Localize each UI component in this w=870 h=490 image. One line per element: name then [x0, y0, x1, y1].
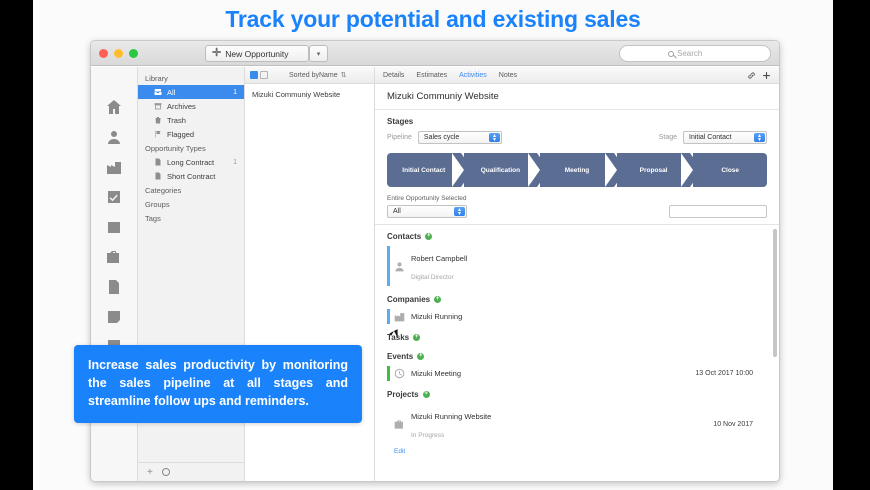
tab-activities[interactable]: Activities — [459, 72, 487, 79]
sidebar-item-label: Trash — [167, 116, 186, 125]
sidebar-section-opportunity-types: Opportunity Types — [138, 141, 244, 155]
gear-icon[interactable] — [162, 468, 170, 476]
calendar-icon[interactable] — [106, 219, 122, 235]
page-title: Track your potential and existing sales — [33, 6, 833, 33]
list-item[interactable]: Robert Campbell Digital Director — [387, 244, 767, 288]
add-icon[interactable] — [762, 71, 771, 80]
contract-icon — [154, 158, 162, 166]
new-opportunity-dropdown[interactable]: ▾ — [309, 45, 328, 62]
detail-pane: Details Estimates Activities Notes Mizuk… — [375, 67, 779, 481]
tab-details[interactable]: Details — [383, 72, 404, 79]
list-item[interactable]: Mizuki Meeting 13 Oct 2017 10:00 — [387, 364, 767, 383]
sidebar-section-categories[interactable]: Categories — [138, 183, 244, 197]
slide-canvas: Track your potential and existing sales … — [33, 0, 833, 490]
flag-icon — [154, 130, 162, 138]
stage-step-meeting[interactable]: Meeting — [540, 153, 614, 187]
group-heading-projects: Projects + — [375, 383, 779, 402]
activity-filter-value: All — [393, 208, 401, 215]
new-opportunity-button[interactable]: ✛ New Opportunity ▾ — [205, 45, 309, 62]
search-placeholder: Search — [677, 49, 702, 58]
detail-actions — [747, 71, 771, 80]
chevron-updown-icon: ▲▼ — [754, 133, 765, 142]
activity-search-input[interactable] — [669, 205, 767, 218]
activities-scroll-area: Contacts + Robert Campbell Digital Direc… — [375, 224, 779, 481]
group-title: Projects — [387, 390, 419, 399]
stage-value: Initial Contact — [689, 134, 731, 141]
archive-icon — [154, 102, 162, 110]
feature-callout: Increase sales productivity by monitorin… — [74, 345, 362, 423]
list-item[interactable]: Mizuki Communiy Website — [245, 84, 374, 105]
stage-step-proposal[interactable]: Proposal — [617, 153, 691, 187]
sidebar-item-label: All — [167, 88, 175, 97]
add-task-icon[interactable]: + — [413, 334, 420, 341]
detail-tabs: Details Estimates Activities Notes — [375, 67, 779, 84]
pipeline-value: Sales cycle — [424, 134, 459, 141]
vertical-scrollbar[interactable] — [773, 229, 777, 357]
pipeline-select[interactable]: Sales cycle ▲▼ — [418, 131, 502, 144]
stage-selectors: Pipeline Sales cycle ▲▼ Stage Initial Co… — [375, 129, 779, 144]
link-icon[interactable] — [747, 71, 756, 80]
clock-icon — [394, 368, 405, 379]
person-icon — [394, 261, 405, 272]
tab-estimates[interactable]: Estimates — [416, 72, 447, 79]
inbox-icon — [154, 88, 162, 96]
entry-name: Robert Campbell — [411, 254, 467, 263]
list-item[interactable]: Mizuki Running Website In Progress 10 No… — [387, 402, 767, 446]
company-icon[interactable] — [106, 159, 122, 175]
sidebar-item-label: Flagged — [167, 130, 194, 139]
stage-pipeline: Initial Contact Qualification Meeting Pr… — [387, 153, 767, 187]
maximize-icon[interactable] — [129, 49, 138, 58]
accent-bar — [387, 366, 390, 381]
home-icon[interactable] — [106, 99, 122, 115]
sidebar-item-label: Long Contract — [167, 158, 214, 167]
group-heading-companies: Companies + — [375, 288, 779, 307]
stage-select[interactable]: Initial Contact ▲▼ — [683, 131, 767, 144]
sidebar-item-archives[interactable]: Archives — [138, 99, 244, 113]
add-project-icon[interactable]: + — [423, 391, 430, 398]
add-contact-icon[interactable]: + — [425, 233, 432, 240]
sidebar-item-short-contract[interactable]: Short Contract — [138, 169, 244, 183]
activity-filter-select[interactable]: All ▲▼ — [387, 205, 467, 218]
plus-icon: ✛ — [212, 48, 221, 59]
company-icon — [394, 311, 405, 322]
person-icon[interactable] — [106, 129, 122, 145]
entry-date: 13 Oct 2017 10:00 — [695, 370, 767, 377]
view-toggle[interactable] — [250, 71, 268, 79]
sidebar-item-count: 1 — [233, 159, 237, 166]
stage-step-initial-contact[interactable]: Initial Contact — [387, 153, 461, 187]
stage-label: Stage — [659, 134, 677, 141]
sidebar-footer-toolbar: + — [138, 462, 244, 481]
chevron-updown-icon: ▲▼ — [489, 133, 500, 142]
sidebar-section-library: Library — [138, 71, 244, 85]
chevron-down-icon: ▾ — [317, 50, 321, 58]
sidebar-item-label: Short Contract — [167, 172, 215, 181]
sort-label[interactable]: Sorted byName — [289, 72, 338, 79]
list-view-icon[interactable] — [250, 71, 258, 79]
sidebar-item-all[interactable]: All 1 — [138, 85, 244, 99]
stage-step-qualification[interactable]: Qualification — [464, 153, 538, 187]
trash-icon — [154, 116, 162, 124]
accent-bar — [387, 309, 390, 324]
tasks-icon[interactable] — [106, 189, 122, 205]
entry-name: Mizuki Meeting — [411, 369, 461, 378]
chevron-updown-icon: ▲▼ — [454, 207, 465, 216]
new-opportunity-label: New Opportunity — [225, 49, 288, 59]
briefcase-icon[interactable] — [106, 249, 122, 265]
group-heading-contacts: Contacts + — [375, 225, 779, 244]
sidebar-item-flagged[interactable]: Flagged — [138, 127, 244, 141]
search-input[interactable]: Search — [619, 45, 771, 62]
entry-name: Mizuki Running — [411, 312, 462, 321]
list-header: Sorted byName ⇅ — [245, 67, 374, 84]
group-title: Events — [387, 352, 413, 361]
window-titlebar: ✛ New Opportunity ▾ Search — [91, 41, 779, 66]
entry-subtitle: Digital Director — [411, 274, 454, 281]
window-controls[interactable] — [99, 49, 138, 58]
accent-bar — [387, 246, 390, 286]
sidebar-section-groups[interactable]: Groups — [138, 197, 244, 211]
group-title: Companies — [387, 295, 430, 304]
add-event-icon[interactable]: + — [417, 353, 424, 360]
sidebar-item-trash[interactable]: Trash — [138, 113, 244, 127]
search-icon — [668, 51, 674, 57]
group-heading-tasks: Tasks + — [375, 326, 779, 345]
briefcase-icon — [394, 419, 405, 430]
contract-icon — [154, 172, 162, 180]
activity-filter-row: All ▲▼ — [375, 205, 779, 224]
pipeline-label: Pipeline — [387, 134, 412, 141]
stages-heading: Stages — [375, 110, 779, 129]
sidebar-item-long-contract[interactable]: Long Contract 1 — [138, 155, 244, 169]
minimize-icon[interactable] — [114, 49, 123, 58]
screenshot-root: Track your potential and existing sales … — [0, 0, 870, 490]
tab-notes[interactable]: Notes — [499, 72, 517, 79]
stage-step-close[interactable]: Close — [693, 153, 767, 187]
add-company-icon[interactable]: + — [434, 296, 441, 303]
grid-view-icon[interactable] — [260, 71, 268, 79]
entry-date: 10 Nov 2017 — [713, 421, 767, 428]
sidebar-item-count: 1 — [233, 89, 237, 96]
list-item[interactable]: Mizuki Running — [387, 307, 767, 326]
opportunity-icon[interactable] — [106, 279, 122, 295]
entry-name: Mizuki Running Website — [411, 412, 491, 421]
selection-note: Entire Opportunity Selected — [375, 187, 779, 205]
sidebar-item-label: Archives — [167, 102, 196, 111]
entry-subtitle: In Progress — [411, 432, 444, 439]
group-title: Contacts — [387, 232, 421, 241]
notes-icon[interactable] — [106, 309, 122, 325]
edit-link[interactable]: Edit — [375, 446, 779, 459]
sidebar-section-tags[interactable]: Tags — [138, 211, 244, 225]
sort-direction-icon[interactable]: ⇅ — [341, 71, 347, 79]
group-heading-events: Events + — [375, 345, 779, 364]
close-icon[interactable] — [99, 49, 108, 58]
add-button[interactable]: + — [147, 467, 153, 478]
detail-title: Mizuki Communiy Website — [375, 84, 779, 110]
